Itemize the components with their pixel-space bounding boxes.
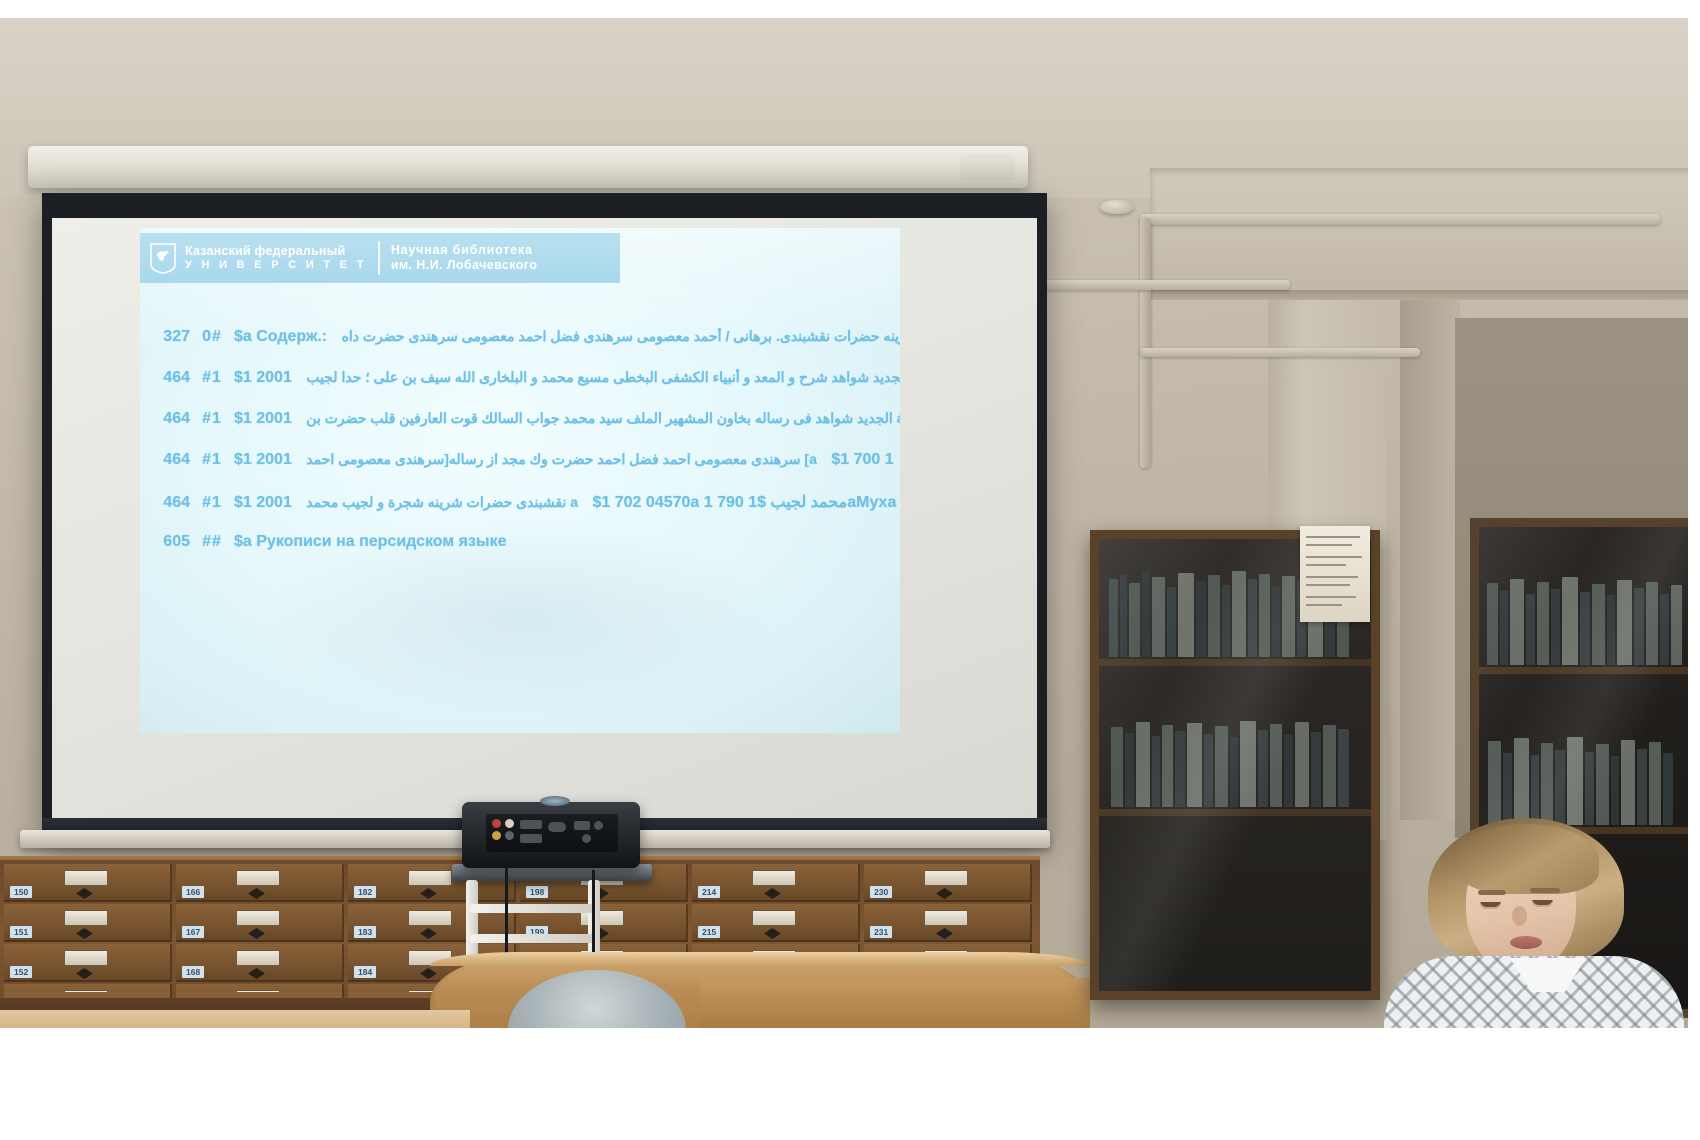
marc-field-content: $a Содерж.: شجرة ثرينه حضرات نقشبندى. بر… xyxy=(234,328,900,346)
marc-indicators: #1 xyxy=(190,451,234,469)
banner-divider xyxy=(378,241,380,275)
marc-tag: 464 xyxy=(148,410,190,428)
drawer-card-label xyxy=(236,910,280,926)
ceiling-soffit xyxy=(1150,168,1700,298)
wall-conduit-pipe xyxy=(1140,214,1660,225)
marc-tag: 464 xyxy=(148,494,190,512)
screen-roller-end-cap xyxy=(960,154,1015,180)
drawer-number: 231 xyxy=(870,926,892,938)
drawer-card-label xyxy=(64,950,108,966)
marc-indicators: ## xyxy=(190,533,234,551)
woman-hair-fringe xyxy=(1454,824,1599,894)
marc-row: 464 #1 $1 2001 a الجديد شواهد فى رساله ب… xyxy=(148,410,900,451)
photograph-of-lecture-room: Казанский федеральный У Н И В Е Р С И Т … xyxy=(0,18,1700,1028)
woman-eyebrow xyxy=(1478,890,1506,895)
wall-pilaster-right xyxy=(1400,300,1460,820)
marc-subfield-code: $a xyxy=(234,328,252,345)
drawer-card-label xyxy=(752,870,796,886)
marc-arabic-text: a نقشبندى حضرات شرينه شجرة و لجيب محمد xyxy=(306,494,578,510)
marc-tag: 327 xyxy=(148,328,190,346)
marc-indicators: #1 xyxy=(190,494,234,512)
marc-label: Содерж.: xyxy=(256,328,327,345)
marc-subfield-code: $1 2001 xyxy=(234,410,292,427)
speaker-woman xyxy=(1418,818,1674,1028)
marc-extra-subfield: $1 702 04570a محمد لجيب $1 790 1aМуха xyxy=(593,494,897,511)
marc-row: 464 #1 $1 2001 a نقشبندى حضرات شرينه شجر… xyxy=(148,492,900,533)
marc-arabic-text: a الجديد شواهد فى رساله بخاون المشهير ال… xyxy=(306,410,900,426)
marc-arabic-text: a] سرهندى معصومى احمد فضل احمد حضرت وك م… xyxy=(306,451,817,467)
drawer-card-label xyxy=(752,910,796,926)
drawer-card-label xyxy=(408,910,452,926)
marc-field-content: $1 2001 a الجديد شواهد فى رساله بخاون ال… xyxy=(234,410,900,428)
drawer-number: 150 xyxy=(10,886,32,898)
marc-extra-subfield: $1 700 1 xyxy=(831,451,893,468)
marc-field-content: $1 2001 a الجديد شواهد شرح و المعد و أنب… xyxy=(234,369,900,387)
marc-row: 605 ## $a Рукописи на персидском языке xyxy=(148,533,900,574)
marc-row: 464 #1 $1 2001 a] سرهندى معصومى احمد فضل… xyxy=(148,451,900,492)
marc-label: Рукописи на персидском языке xyxy=(256,533,506,550)
marc-arabic-text: شجرة ثرينه حضرات نقشبندى. برهانى / أحمد … xyxy=(342,328,900,344)
marc-record-list: 327 0# $a Содерж.: شجرة ثرينه حضرات نقشب… xyxy=(148,328,900,574)
projector-stand-leg xyxy=(466,880,478,964)
marc-row: 464 #1 $1 2001 a الجديد شواهد شرح و المع… xyxy=(148,369,900,410)
marc-arabic-text: a الجديد شواهد شرح و المعد و أنبياء الكش… xyxy=(306,369,900,385)
banner-university-line2: У Н И В Е Р С И Т Е Т xyxy=(185,258,367,272)
drawer-number: 166 xyxy=(182,886,204,898)
projected-slide: Казанский федеральный У Н И В Е Р С И Т … xyxy=(140,228,900,733)
marc-subfield-code: $1 2001 xyxy=(234,451,292,468)
marc-row: 327 0# $a Содерж.: شجرة ثرينه حضرات نقشب… xyxy=(148,328,900,369)
podium-front-panel xyxy=(700,978,1090,1028)
drawer-card-label xyxy=(236,870,280,886)
letterbox-band-bottom xyxy=(0,1028,1700,1140)
drawer-number: 184 xyxy=(354,966,376,978)
marc-indicators: #1 xyxy=(190,369,234,387)
drawer-number: 215 xyxy=(698,926,720,938)
marc-indicators: 0# xyxy=(190,328,234,346)
marc-field-content: $1 2001 a نقشبندى حضرات شرينه شجرة و لجي… xyxy=(234,492,900,512)
projector-port-panel xyxy=(486,814,618,852)
drawer-card-label xyxy=(924,910,968,926)
marc-tag: 605 xyxy=(148,533,190,551)
marc-field-content: $a Рукописи на персидском языке xyxy=(234,533,900,551)
slide-header-banner: Казанский федеральный У Н И В Е Р С И Т … xyxy=(140,233,620,283)
woman-lips xyxy=(1510,936,1542,949)
projector-lens xyxy=(540,796,570,806)
marc-subfield-code: $1 2001 xyxy=(234,494,292,511)
drawer-number: 168 xyxy=(182,966,204,978)
podium-edge xyxy=(430,952,1090,966)
banner-university-line1: Казанский федеральный xyxy=(185,244,367,258)
soffit-edge xyxy=(1150,290,1700,300)
drawer-number: 152 xyxy=(10,966,32,978)
drawer-number: 183 xyxy=(354,926,376,938)
posted-notice-sheet xyxy=(1300,526,1370,622)
smoke-detector-icon xyxy=(1100,200,1134,214)
desk-surface-left xyxy=(0,1010,470,1028)
drawer-card-label xyxy=(64,910,108,926)
wall-conduit-pipe xyxy=(1140,218,1151,468)
drawer-number: 167 xyxy=(182,926,204,938)
drawer-number: 151 xyxy=(10,926,32,938)
drawer-card-label xyxy=(408,870,452,886)
marc-indicators: #1 xyxy=(190,410,234,428)
letterbox-band-top xyxy=(0,0,1700,18)
drawer-number: 182 xyxy=(354,886,376,898)
marc-subfield-code: $a xyxy=(234,533,252,550)
drawer-card-label xyxy=(236,950,280,966)
letterbox-band-right xyxy=(1688,0,1700,1140)
marc-tag: 464 xyxy=(148,451,190,469)
projection-screen-roller-case xyxy=(28,146,1028,188)
kfu-shield-icon xyxy=(150,243,176,274)
woman-eyebrow xyxy=(1530,888,1560,893)
marc-subfield-code: $1 2001 xyxy=(234,369,292,386)
woman-nose xyxy=(1512,906,1527,926)
drawer-card-label xyxy=(64,870,108,886)
drawer-number: 230 xyxy=(870,886,892,898)
marc-field-content: $1 2001 a] سرهندى معصومى احمد فضل احمد ح… xyxy=(234,451,900,469)
banner-library-line1: Научная библиотека xyxy=(391,243,537,258)
drawer-card-label xyxy=(924,870,968,886)
banner-library-line2: им. Н.И. Лобачевского xyxy=(391,258,537,273)
drawer-number: 214 xyxy=(698,886,720,898)
marc-tag: 464 xyxy=(148,369,190,387)
wall-conduit-pipe xyxy=(1140,348,1420,357)
